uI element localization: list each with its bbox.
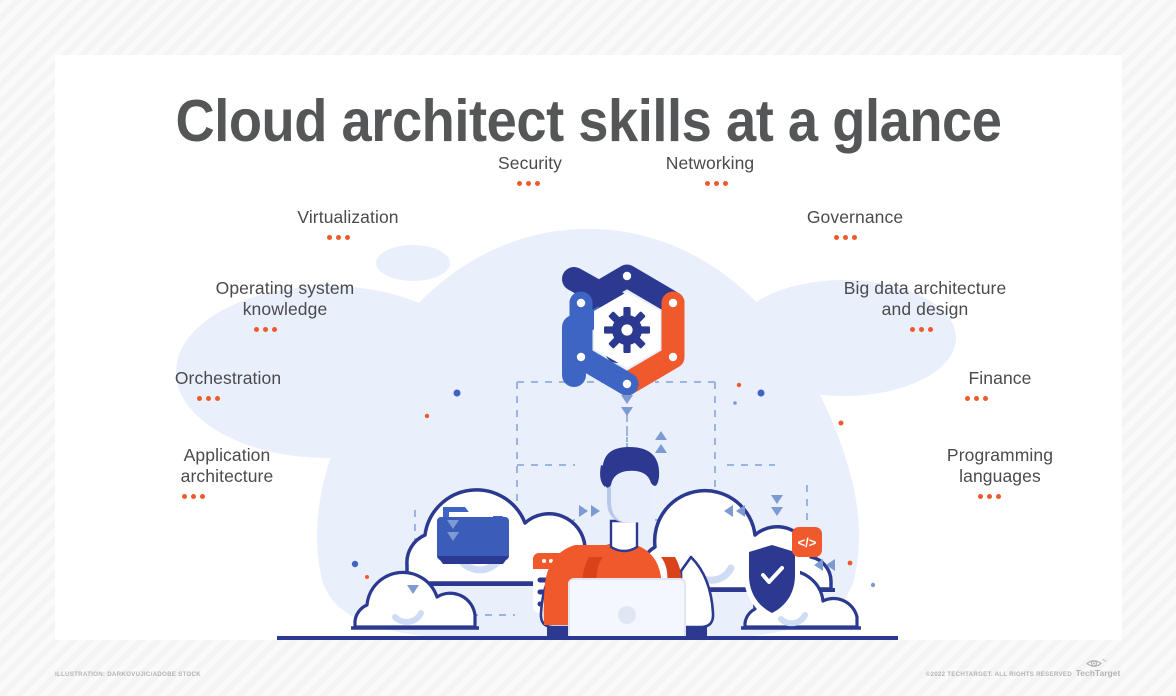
infographic-page: Cloud architect skills at a glance: [0, 0, 1176, 696]
skill-dots-big-data-architecture-and-design: [910, 327, 933, 332]
skill-dots-security: [517, 181, 540, 186]
hexagon-gear-icon: [574, 272, 677, 388]
skill-label-security: Security: [460, 153, 600, 174]
skill-label-big-data-architecture-and-design: Big data architecture and design: [810, 278, 1040, 320]
skill-dots-application-architecture: [182, 494, 205, 499]
copyright-notice: ©2022 TECHTARGET. ALL RIGHTS RESERVED: [926, 671, 1072, 678]
skill-label-operating-system-knowledge: Operating system knowledge: [175, 278, 395, 320]
skill-dots-finance: [965, 396, 988, 401]
skill-dots-governance: [834, 235, 857, 240]
gear-icon: [604, 307, 650, 353]
illustration-credit: ILLUSTRATION: DARKOVUJIC/ADOBE STOCK: [55, 671, 201, 678]
small-blob-top: [376, 245, 450, 281]
page-title: Cloud architect skills at a glance: [98, 87, 1080, 155]
skill-label-orchestration: Orchestration: [138, 368, 318, 389]
content-card: Cloud architect skills at a glance: [55, 55, 1122, 640]
skill-label-finance: Finance: [920, 368, 1080, 389]
skill-label-virtualization: Virtualization: [263, 207, 433, 228]
skill-dots-networking: [705, 181, 728, 186]
skill-dots-operating-system-knowledge: [254, 327, 277, 332]
skill-label-application-architecture: Application architecture: [137, 445, 317, 487]
illustration-stage: </>: [55, 165, 1122, 640]
skill-label-governance: Governance: [770, 207, 940, 228]
code-badge-glyph: </>: [798, 535, 817, 550]
code-badge-icon: </>: [792, 527, 822, 557]
skill-label-networking: Networking: [615, 153, 805, 174]
skill-dots-virtualization: [327, 235, 350, 240]
skill-dots-programming-languages: [978, 494, 1001, 499]
skill-dots-orchestration: [197, 396, 220, 401]
skill-label-programming-languages: Programming languages: [905, 445, 1095, 487]
techtarget-wordmark: TechTarget: [1076, 668, 1121, 678]
techtarget-logo: TechTarget: [1074, 655, 1122, 681]
